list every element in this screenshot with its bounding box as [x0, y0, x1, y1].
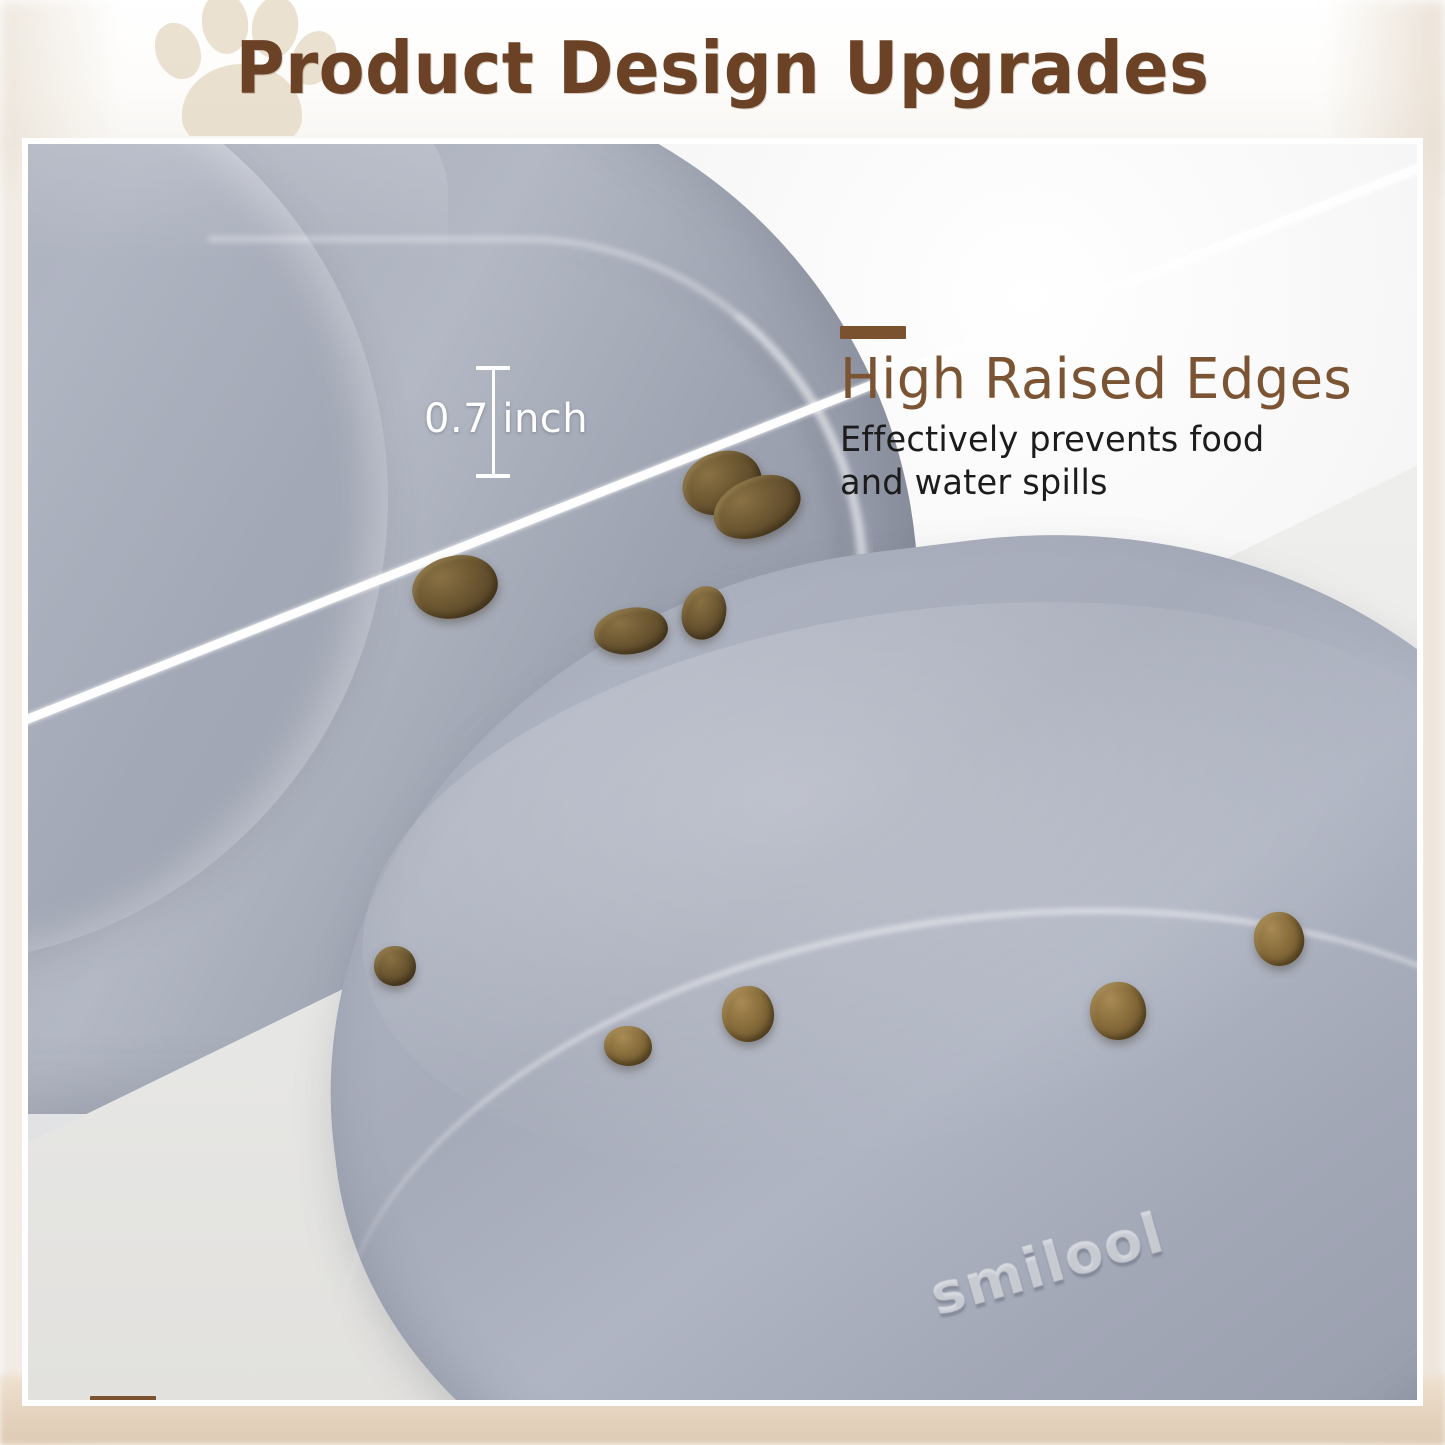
feature-body-line-2: and water spills: [840, 463, 1108, 503]
product-photo-frame: smilool 0.7 inch High Raised Edges Effec…: [22, 138, 1423, 1406]
feature-body-line-1: Effectively prevents food: [840, 420, 1264, 460]
accent-bar-icon: [90, 1396, 156, 1400]
dimension-cap-bottom: [476, 474, 510, 478]
header-banner: Product Design Upgrades: [0, 0, 1445, 136]
upper-mat-inner-surface: [28, 144, 388, 964]
dimension-label: 0.7 inch: [424, 396, 588, 442]
product-photo: smilool 0.7 inch High Raised Edges Effec…: [28, 144, 1417, 1400]
feature-block-floor-clean: Keeping the floor clean Minimizes time s…: [90, 1396, 1045, 1400]
feature-block-raised-edges: High Raised Edges Effectively prevents f…: [840, 326, 1368, 505]
feature-body: Effectively prevents food and water spil…: [840, 419, 1347, 504]
feature-heading: High Raised Edges: [840, 351, 1352, 409]
dimension-callout: 0.7 inch: [448, 366, 618, 478]
accent-bar-icon: [840, 326, 906, 339]
page-title: Product Design Upgrades: [51, 0, 1395, 136]
